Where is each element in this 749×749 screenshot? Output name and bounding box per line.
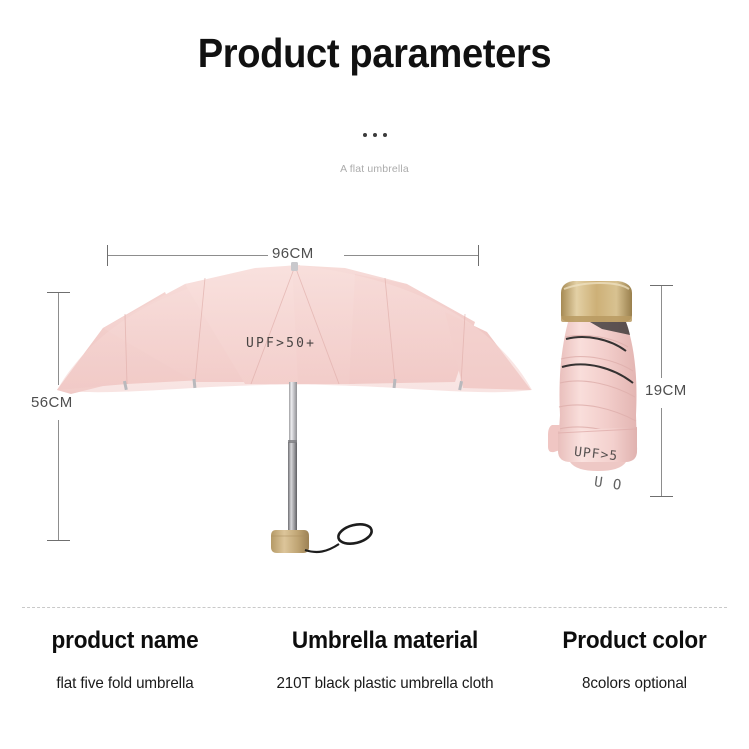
spec-head-umbrella-material: Umbrella material	[258, 628, 512, 654]
canopy-upf-print: UPF>50+	[246, 336, 316, 351]
umbrella-shaft-upper	[289, 382, 297, 444]
spec-value-product-name: flat five fold umbrella	[6, 674, 244, 693]
dim-folded-height-cap-bottom	[650, 496, 673, 497]
folded-base	[570, 462, 626, 471]
umbrella-handle-cap	[271, 530, 309, 553]
dim-width-segment-left	[108, 255, 268, 256]
dim-open-height-cap-bottom	[47, 540, 70, 541]
umbrella-shaft-lower	[288, 442, 297, 534]
spec-column-product-color: Product color 8colors optional	[520, 628, 749, 694]
spec-head-product-name: product name	[8, 628, 243, 654]
umbrella-finial	[291, 262, 298, 271]
folded-umbrella-graphic	[540, 275, 660, 505]
dim-folded-height-segment-bottom	[661, 408, 662, 496]
dim-open-height-cap-top	[47, 292, 70, 293]
spec-column-product-name: product name flat five fold umbrella	[0, 628, 250, 694]
spec-column-umbrella-material: Umbrella material 210T black plastic umb…	[250, 628, 520, 694]
dim-folded-height-segment-top	[661, 285, 662, 378]
folded-gold-cap	[561, 281, 632, 322]
canopy-panels	[57, 265, 532, 394]
section-divider	[22, 607, 727, 608]
dim-open-height-label: 56CM	[31, 394, 73, 411]
spec-table: product name flat five fold umbrella Umb…	[0, 628, 749, 694]
dim-folded-height-label: 19CM	[645, 382, 687, 399]
infographic-page: Product parameters A flat umbrella	[0, 0, 749, 749]
dim-open-height-segment-top	[58, 292, 59, 385]
spec-value-umbrella-material: 210T black plastic umbrella cloth	[257, 674, 514, 693]
spec-value-product-color: 8colors optional	[526, 674, 744, 693]
dim-width-label: 96CM	[272, 245, 314, 262]
open-umbrella-graphic	[55, 262, 535, 562]
dim-folded-height-cap-top	[650, 285, 673, 286]
dim-width-cap-left	[107, 245, 108, 266]
dim-open-height-segment-bottom	[58, 420, 59, 540]
product-illustration: UPF>50+	[0, 0, 749, 600]
spec-head-product-color: Product color	[527, 628, 742, 654]
dim-width-cap-right	[478, 245, 479, 266]
wrist-strap	[305, 521, 374, 552]
dim-width-segment-right	[344, 255, 478, 256]
